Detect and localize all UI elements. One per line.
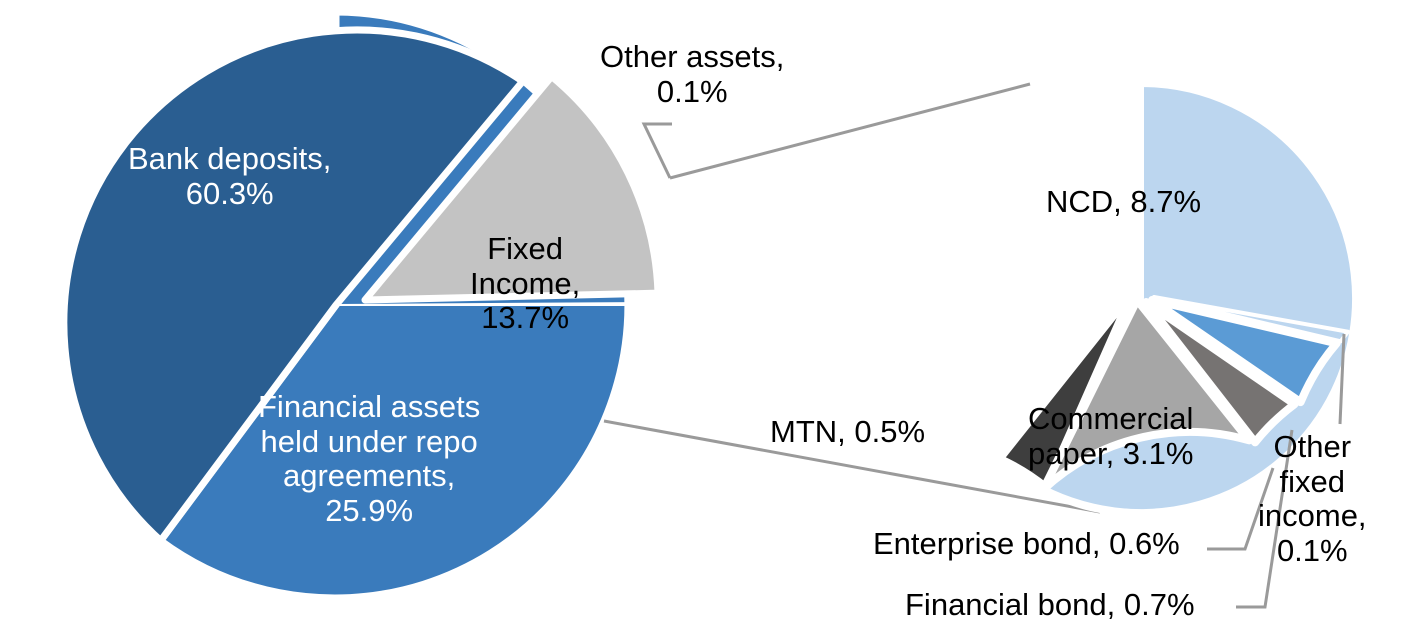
- pie-of-pie-chart: Bank deposits, 60.3% Financial assets he…: [0, 0, 1404, 644]
- other-assets-leader: [644, 124, 672, 178]
- other-assets-leader-path: [644, 124, 672, 178]
- connector-top: [670, 84, 1030, 178]
- secondary-pie: [1000, 83, 1356, 513]
- primary-pie: [64, 12, 658, 598]
- chart-canvas: [0, 0, 1404, 644]
